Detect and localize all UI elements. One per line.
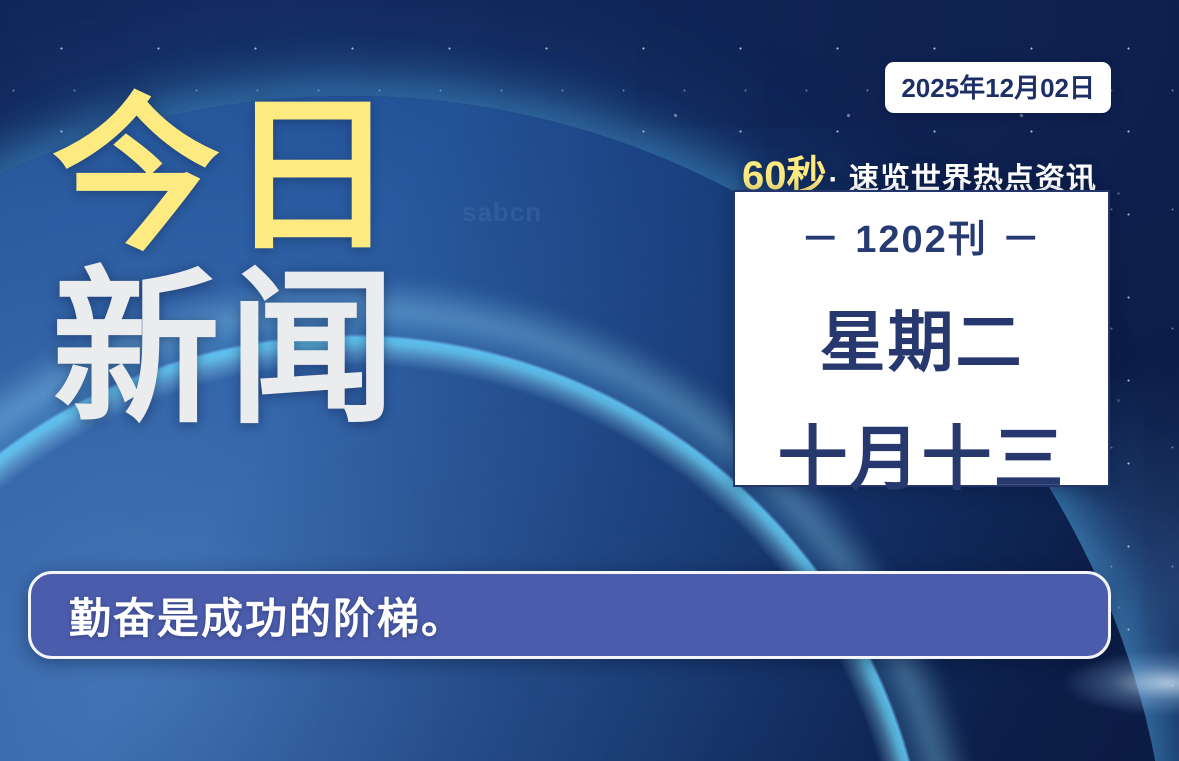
page-title-line-1: 今日 <box>52 96 404 257</box>
lens-flare <box>1063 651 1179 715</box>
watermark-text: sabcn <box>462 197 542 228</box>
quote-bar: 勤奋是成功的阶梯。 <box>28 571 1111 659</box>
weekday-label: 星期二 <box>820 289 1024 385</box>
news-poster: sabcn 今日 新闻 2025年12月02日 60秒 · 速览世界热点资讯 －… <box>0 0 1179 761</box>
issue-info-card: － 1202刊 － 星期二 十月十三 <box>733 190 1110 487</box>
date-badge: 2025年12月02日 <box>885 62 1111 113</box>
page-title-line-2: 新闻 <box>52 269 404 430</box>
issue-dash-left: － <box>801 208 841 263</box>
issue-dash-right: － <box>1002 208 1042 263</box>
issue-number-row: － 1202刊 － <box>801 208 1042 263</box>
page-title: 今日 新闻 <box>52 96 404 431</box>
issue-number: 1202刊 <box>855 208 988 263</box>
lunar-date-label: 十月十三 <box>778 403 1066 504</box>
quote-text: 勤奋是成功的阶梯。 <box>69 585 465 646</box>
